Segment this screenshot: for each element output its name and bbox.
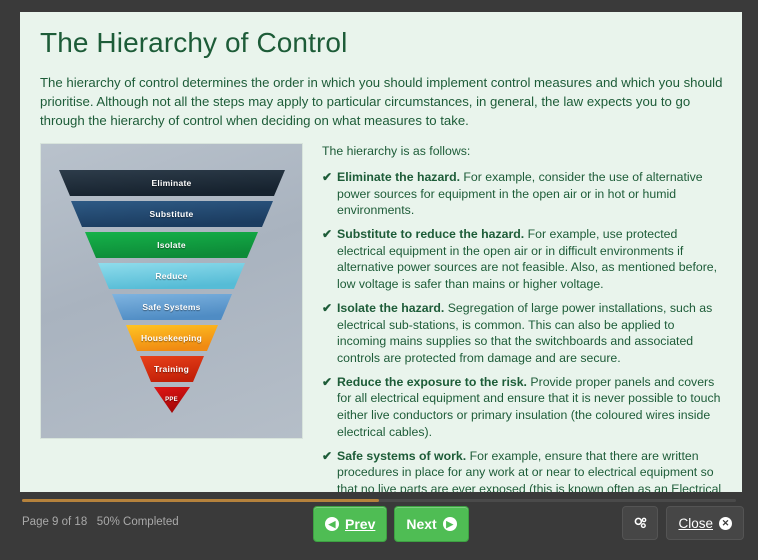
list-item-term: Substitute to reduce the hazard. [337, 227, 524, 241]
pyramid-level-label: Reduce [155, 271, 187, 281]
list-item-term: Reduce the exposure to the risk. [337, 375, 527, 389]
list-item: ✔Substitute to reduce the hazard. For ex… [322, 226, 724, 293]
pyramid-level-substitute: Substitute [71, 201, 273, 227]
chevron-right-circle-icon: ▶ [443, 517, 457, 531]
pyramid-level-eliminate: Eliminate [59, 170, 285, 196]
list-item-term: Eliminate the hazard. [337, 170, 460, 184]
gear-icon [632, 515, 649, 532]
close-button-label: Close [678, 516, 713, 531]
list-item-term: Safe systems of work. [337, 449, 466, 463]
slide-stage: The Hierarchy of Control The hierarchy o… [20, 12, 742, 492]
course-player: The Hierarchy of Control The hierarchy o… [0, 0, 758, 560]
hierarchy-pyramid-image: EliminateSubstituteIsolateReduceSafe Sys… [40, 143, 303, 439]
check-icon: ✔ [322, 374, 332, 390]
pyramid-level: PPE [41, 387, 302, 413]
list-item: ✔Isolate the hazard. Segregation of larg… [322, 300, 724, 367]
progress-bar-fill [22, 499, 379, 502]
left-column: EliminateSubstituteIsolateReduceSafe Sys… [40, 143, 303, 439]
pyramid-level-safe-systems: Safe Systems [112, 294, 232, 320]
close-button[interactable]: Close ✕ [666, 506, 744, 540]
player-toolbar: Page 9 of 18 50% Completed ◀ Prev Next ▶ [0, 498, 758, 560]
pyramid-level: Reduce [41, 263, 302, 289]
pyramid-level-label: Isolate [157, 240, 186, 250]
list-item: ✔Reduce the exposure to the risk. Provid… [322, 374, 724, 441]
pyramid-level-label: Substitute [149, 209, 193, 219]
pyramid-level-label: Eliminate [151, 178, 191, 188]
next-button-label: Next [406, 516, 436, 532]
check-icon: ✔ [322, 169, 332, 185]
utility-buttons: Close ✕ [622, 506, 744, 540]
slide-content: The Hierarchy of Control The hierarchy o… [40, 28, 724, 484]
pyramid-level-label: PPE [165, 397, 178, 403]
content-columns: EliminateSubstituteIsolateReduceSafe Sys… [40, 143, 724, 492]
progress-bar-track[interactable] [22, 499, 736, 502]
list-item: ✔Safe systems of work. For example, ensu… [322, 448, 724, 492]
pyramid-level-ppe: PPE [154, 387, 190, 413]
list-lead-text: The hierarchy is as follows: [322, 143, 724, 160]
pyramid-level: Eliminate [41, 170, 302, 196]
prev-button[interactable]: ◀ Prev [313, 506, 387, 542]
status-text: Page 9 of 18 50% Completed [22, 516, 179, 528]
list-item-term: Isolate the hazard. [337, 301, 444, 315]
pyramid-level: Substitute [41, 201, 302, 227]
pyramid-level-label: Safe Systems [142, 302, 200, 312]
right-column: The hierarchy is as follows: ✔Eliminate … [303, 143, 724, 492]
pyramid-level-label: Training [154, 364, 189, 374]
check-icon: ✔ [322, 226, 332, 242]
pyramid-level-isolate: Isolate [85, 232, 258, 258]
settings-button[interactable] [622, 506, 658, 540]
check-icon: ✔ [322, 448, 332, 464]
pyramid-level: Training [41, 356, 302, 382]
pyramid-level-reduce: Reduce [98, 263, 245, 289]
check-icon: ✔ [322, 300, 332, 316]
pyramid-level: Housekeeping [41, 325, 302, 351]
navigation-buttons: ◀ Prev Next ▶ [313, 506, 469, 542]
prev-button-label: Prev [345, 516, 375, 532]
pyramid-level-label: Housekeeping [141, 333, 202, 343]
list-item: ✔Eliminate the hazard. For example, cons… [322, 169, 724, 219]
pyramid-level: Isolate [41, 232, 302, 258]
pyramid-level-housekeeping: Housekeeping [126, 325, 218, 351]
next-button[interactable]: Next ▶ [394, 506, 468, 542]
close-icon: ✕ [719, 517, 732, 530]
pyramid-level: Safe Systems [41, 294, 302, 320]
intro-paragraph: The hierarchy of control determines the … [40, 73, 724, 130]
hierarchy-bullet-list: ✔Eliminate the hazard. For example, cons… [322, 169, 724, 492]
chevron-left-circle-icon: ◀ [325, 517, 339, 531]
page-title: The Hierarchy of Control [40, 28, 724, 59]
pyramid-level-training: Training [140, 356, 204, 382]
